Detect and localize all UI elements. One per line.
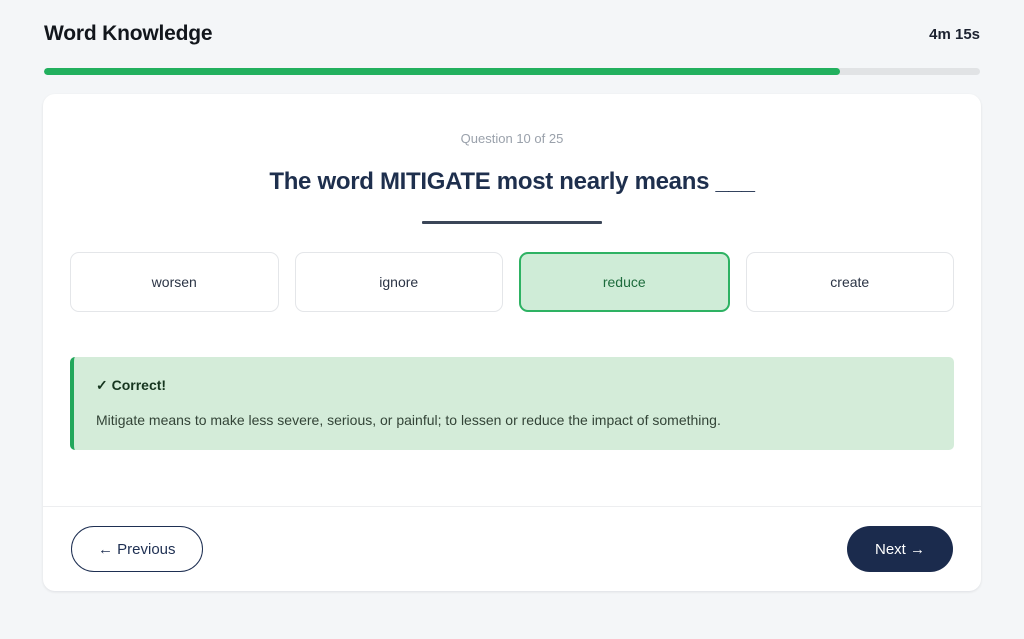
answer-option-2[interactable]: reduce [519,252,730,312]
previous-button[interactable]: ← Previous [71,526,203,572]
feedback-panel: ✓ Correct! Mitigate means to make less s… [70,357,954,450]
feedback-body: Mitigate means to make less severe, seri… [96,411,932,429]
question-prompt: The word MITIGATE most nearly means ___ [43,168,981,196]
quiz-header: Word Knowledge 4m 15s [44,14,980,54]
question-card: Question 10 of 25 The word MITIGATE most… [43,94,981,591]
page-title: Word Knowledge [44,22,212,46]
timer-display: 4m 15s [929,26,980,43]
question-divider [422,221,602,224]
card-footer: ← Previous Next → [43,507,981,591]
answer-option-1[interactable]: ignore [295,252,504,312]
answer-options: worsen ignore reduce create [70,252,954,312]
feedback-title: ✓ Correct! [96,377,932,394]
quiz-page: Word Knowledge 4m 15s Question 10 of 25 … [0,0,1024,639]
next-button[interactable]: Next → [847,526,953,572]
answer-option-3[interactable]: create [746,252,955,312]
answer-option-0[interactable]: worsen [70,252,279,312]
progress-bar-track [44,68,980,75]
progress-bar-fill [44,68,840,75]
question-counter: Question 10 of 25 [43,131,981,146]
